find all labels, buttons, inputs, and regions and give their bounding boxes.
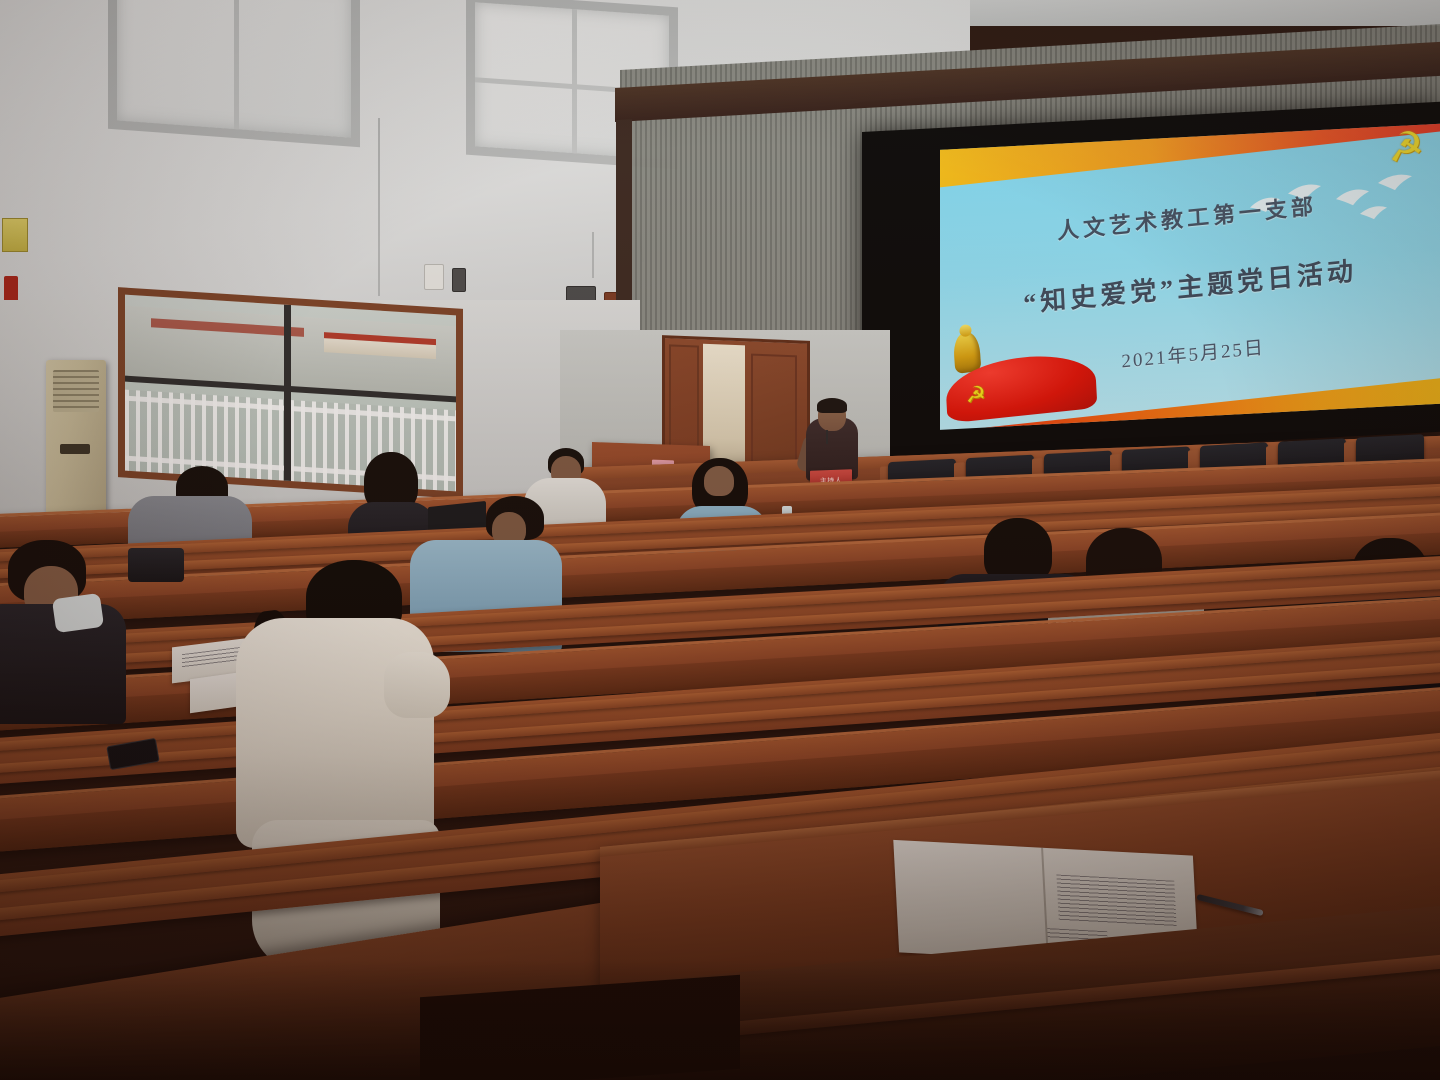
- party-emblem-banner-icon: ☭: [966, 384, 986, 407]
- window-mullion-vertical: [234, 0, 239, 129]
- hanging-cable: [378, 118, 380, 296]
- sleeve: [384, 652, 450, 718]
- handbag: [128, 548, 184, 582]
- lecture-hall-photo: ☭ 人文艺术教工第一支部 “知史爱党”主题党日活动 2021年5月25日 ☭: [0, 0, 1440, 1080]
- party-emblem-icon: ☭: [1387, 126, 1425, 170]
- ac-control-panel: [60, 444, 90, 454]
- wall-notice-sign: [2, 218, 28, 252]
- microphone-stand: [826, 430, 828, 444]
- presenter-hair: [817, 398, 847, 413]
- wall-switch-box: [452, 268, 466, 292]
- presentation-slide: ☭ 人文艺术教工第一支部 “知史爱党”主题党日活动 2021年5月25日 ☭: [940, 124, 1440, 430]
- slide-line-branch: 人文艺术教工第一支部: [940, 177, 1437, 258]
- face-mask: [52, 593, 104, 633]
- window-mullion-vertical: [284, 305, 291, 481]
- head: [704, 466, 734, 496]
- window-view-awning: [151, 319, 303, 338]
- window-view-signboard: [324, 332, 437, 358]
- projection-screen[interactable]: ☭ 人文艺术教工第一支部 “知史爱党”主题党日活动 2021年5月25日 ☭: [862, 102, 1440, 462]
- booklet-text-lines: [1056, 875, 1176, 927]
- window-mullion-vertical: [572, 9, 577, 153]
- wall-sensor-box: [424, 264, 444, 290]
- ac-grille: [53, 370, 99, 412]
- clerestory-window-left: [108, 0, 360, 147]
- slide-line-theme: “知史爱党”主题党日活动: [940, 242, 1440, 328]
- door-panel-right: [751, 354, 797, 472]
- hanging-cable: [592, 232, 594, 278]
